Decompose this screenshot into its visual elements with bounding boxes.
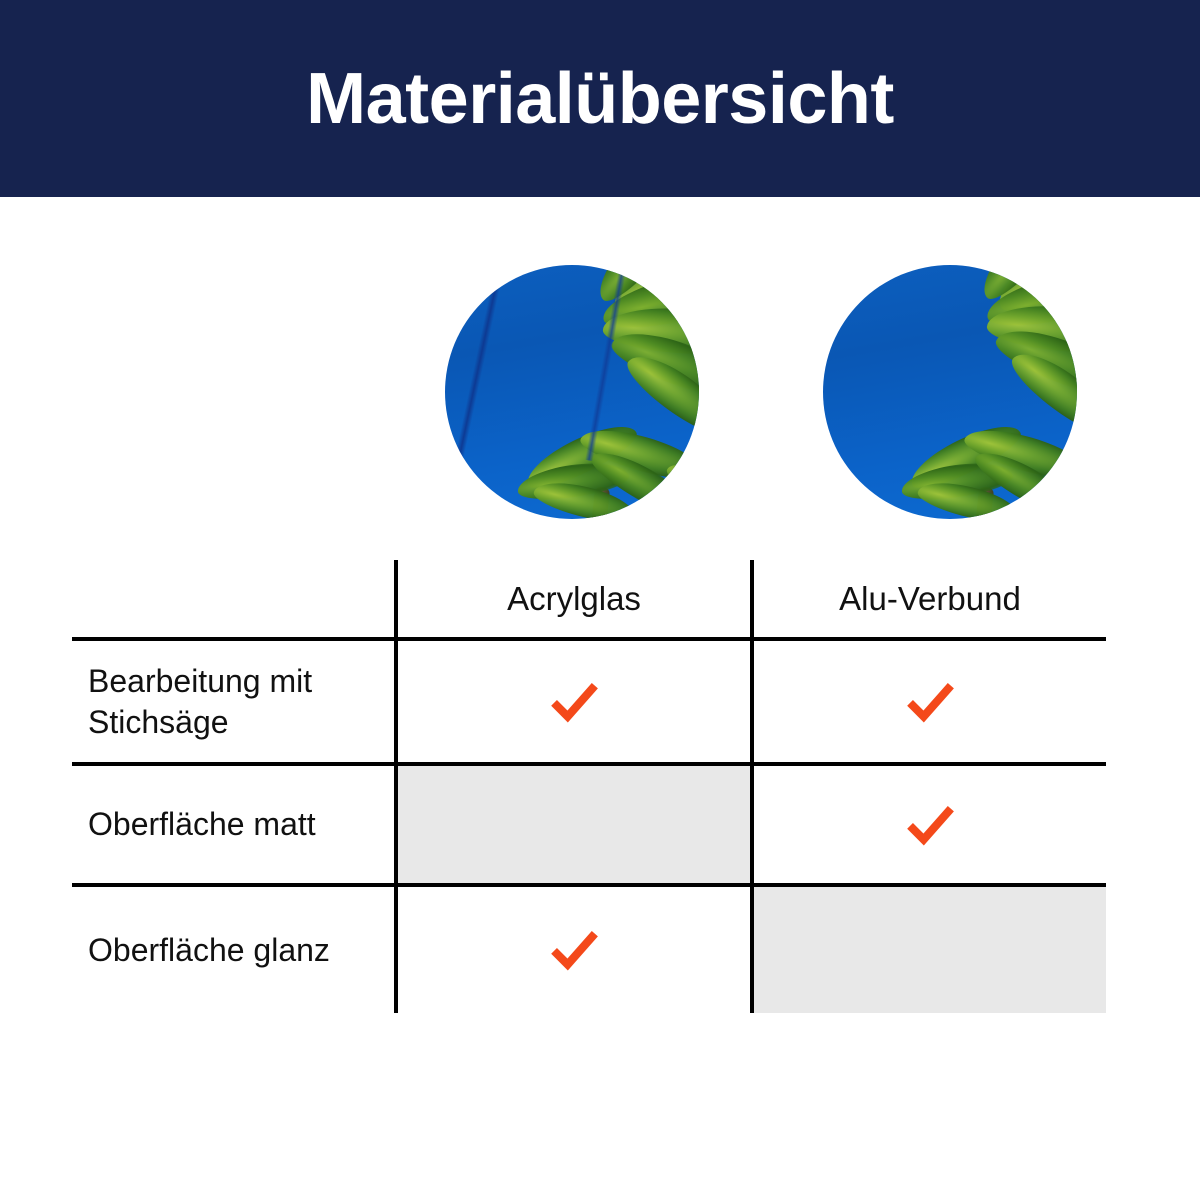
palm-tree-photo	[823, 265, 1077, 519]
table-cell-glanz-alu-verbund	[754, 887, 1106, 1013]
table-row-label-text: Bearbeitung mit Stichsäge	[88, 661, 388, 743]
page-title: Materialübersicht	[306, 63, 894, 135]
table-cell-matt-alu-verbund	[754, 766, 1106, 883]
material-sample-row	[0, 265, 1200, 520]
check-icon	[901, 796, 959, 854]
table-column-header-label: Alu-Verbund	[839, 580, 1021, 618]
table-column-header-label: Acrylglas	[507, 580, 641, 618]
table-cell-glanz-acrylglas	[398, 887, 750, 1013]
table-row-label: Oberfläche matt	[88, 766, 388, 883]
check-icon	[545, 673, 603, 731]
material-comparison-table: Acrylglas Alu-Verbund Bearbeitung mit St…	[72, 548, 1106, 1013]
table-row-label: Bearbeitung mit Stichsäge	[88, 641, 388, 762]
material-overview-page: Materialübersicht	[0, 0, 1200, 1200]
table-row-label-text: Oberfläche glanz	[88, 930, 330, 971]
alu-verbund-sample-image	[823, 265, 1077, 519]
table-column-header-alu-verbund: Alu-Verbund	[754, 560, 1106, 637]
acrylglas-sample-circle	[445, 265, 699, 519]
table-column-header-acrylglas: Acrylglas	[398, 560, 750, 637]
page-header: Materialübersicht	[0, 0, 1200, 197]
check-icon	[901, 673, 959, 731]
table-cell-stichsaege-alu-verbund	[754, 641, 1106, 762]
table-cell-stichsaege-acrylglas	[398, 641, 750, 762]
alu-verbund-sample-circle	[823, 265, 1077, 519]
acrylglas-sample-image	[445, 265, 699, 519]
check-icon	[545, 921, 603, 979]
table-row-label: Oberfläche glanz	[88, 887, 388, 1013]
table-cell-matt-acrylglas	[398, 766, 750, 883]
table-row-label-text: Oberfläche matt	[88, 804, 316, 845]
palm-tree-photo	[445, 265, 699, 519]
